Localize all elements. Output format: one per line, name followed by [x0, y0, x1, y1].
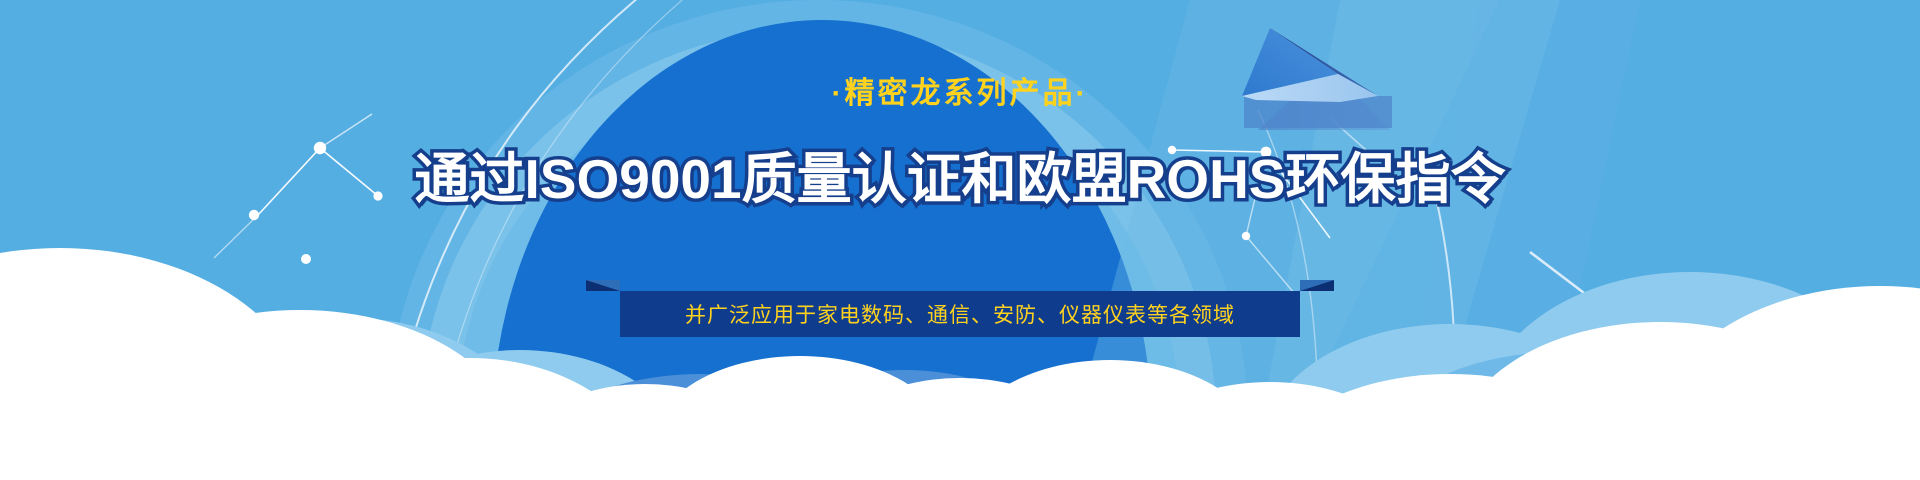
ribbon-label: 并广泛应用于家电数码、通信、安防、仪器仪表等各领域	[685, 299, 1235, 329]
banner-background-scene	[0, 0, 1920, 480]
ribbon-tail-right-icon	[1300, 280, 1334, 291]
constellation-dot	[373, 191, 382, 200]
banner-ribbon: 并广泛应用于家电数码、通信、安防、仪器仪表等各领域	[620, 291, 1300, 337]
constellation-dot	[249, 210, 259, 220]
constellation-dot	[301, 254, 311, 264]
ribbon-tail-left-icon	[586, 280, 620, 291]
constellation-dot	[1261, 147, 1272, 158]
constellation-dot	[314, 142, 326, 154]
ribbon-body: 并广泛应用于家电数码、通信、安防、仪器仪表等各领域	[620, 291, 1300, 337]
constellation-dot	[1242, 232, 1250, 240]
promo-banner: ·精密龙系列产品· 通过ISO9001质量认证和欧盟ROHS环保指令 并广泛应用…	[0, 0, 1920, 480]
constellation-dot	[1168, 146, 1176, 154]
